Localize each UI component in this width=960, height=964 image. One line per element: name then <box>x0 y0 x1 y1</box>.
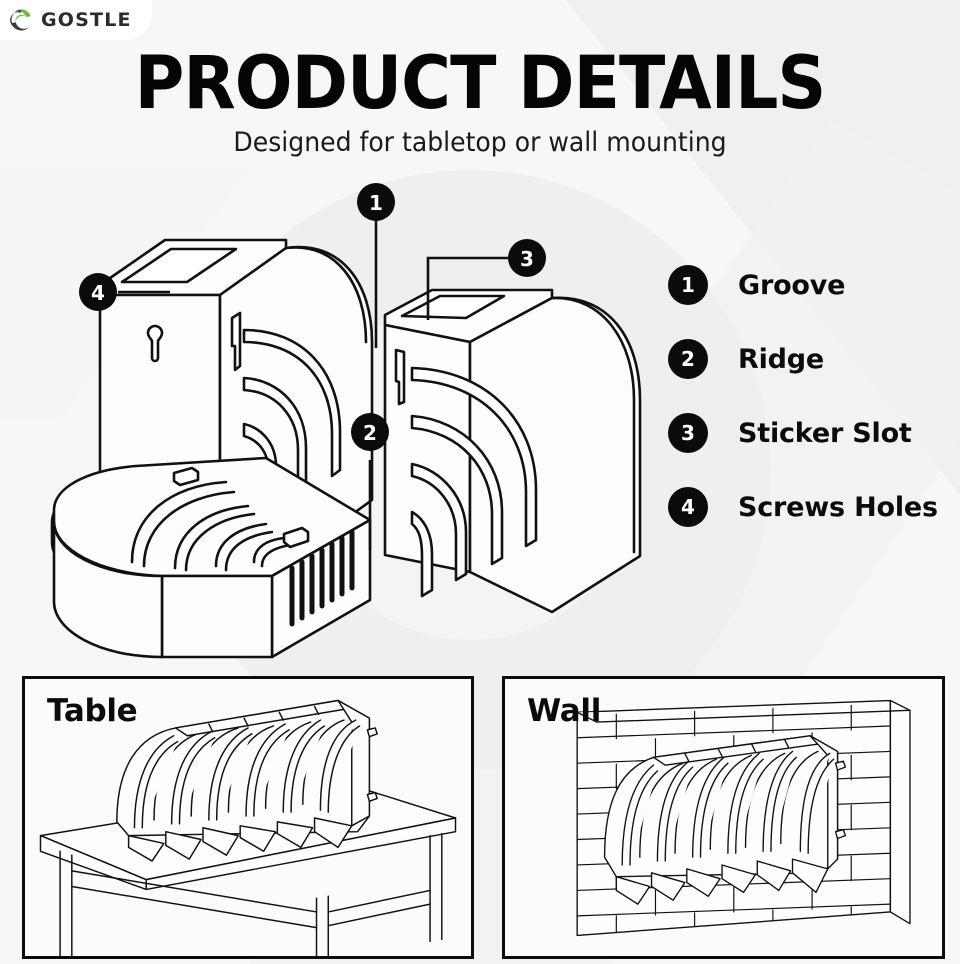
legend-badge-2: 2 <box>668 339 708 379</box>
legend-list: 1 Groove 2 Ridge 3 Sticker Slot 4 Screws… <box>668 248 953 544</box>
callout-badge-1: 1 <box>357 183 395 221</box>
legend-badge-3: 3 <box>668 413 708 453</box>
panel-title-wall: Wall <box>527 693 601 729</box>
legend-label-ridge: Ridge <box>738 344 824 375</box>
svg-text:1: 1 <box>369 191 383 215</box>
legend-badge-4: 4 <box>668 487 708 527</box>
svg-text:4: 4 <box>91 281 105 305</box>
legend-item-groove: 1 Groove <box>668 248 953 322</box>
legend-item-screws-holes: 4 Screws Holes <box>668 470 953 544</box>
panel-table: Table <box>22 676 474 959</box>
callout-badge-3: 3 <box>508 239 546 277</box>
panel-title-table: Table <box>47 693 137 729</box>
brand-logo-bar: GOSTLE <box>0 0 152 40</box>
legend-item-ridge: 2 Ridge <box>668 322 953 396</box>
product-details-page: GOSTLE PRODUCT DETAILS Designed for tabl… <box>0 0 960 964</box>
brand-name: GOSTLE <box>41 11 132 30</box>
callout-badge-2: 2 <box>351 413 389 451</box>
legend-badge-1: 1 <box>668 265 708 305</box>
legend-label-sticker-slot: Sticker Slot <box>738 418 912 449</box>
panel-wall: Wall <box>502 676 945 959</box>
callout-badge-4: 4 <box>79 273 117 311</box>
swirl-s-logo-icon <box>6 5 36 35</box>
svg-text:2: 2 <box>363 421 377 445</box>
svg-text:3: 3 <box>520 247 534 271</box>
page-title: PRODUCT DETAILS <box>34 44 927 124</box>
mounting-panels: Table <box>0 676 960 964</box>
legend-label-groove: Groove <box>738 270 845 301</box>
unit-right <box>385 290 640 612</box>
page-subtitle: Designed for tabletop or wall mounting <box>34 126 927 160</box>
legend-item-sticker-slot: 3 Sticker Slot <box>668 396 953 470</box>
product-exploded-diagram: 1 2 3 4 <box>40 170 680 670</box>
legend-label-screws-holes: Screws Holes <box>738 492 938 523</box>
